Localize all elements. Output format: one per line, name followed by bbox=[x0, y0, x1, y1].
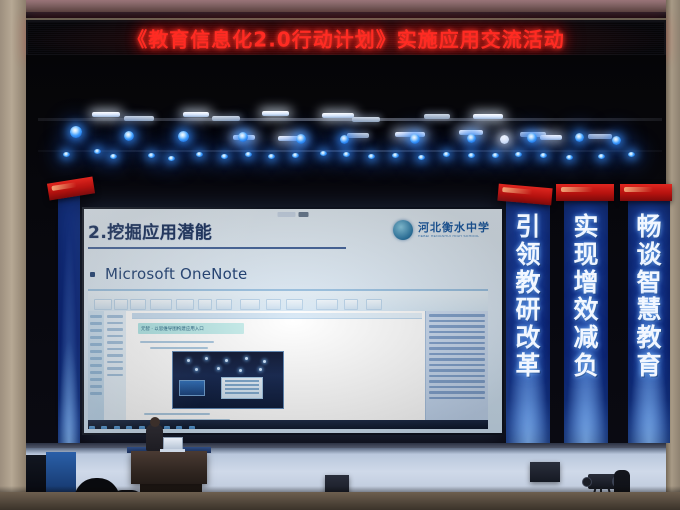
taskbar-icon bbox=[189, 426, 195, 430]
ribbon-highlight bbox=[624, 187, 653, 192]
pillar1-char-1: 领 bbox=[515, 242, 540, 268]
onenote-section-column bbox=[104, 311, 127, 420]
red-ribbon-ornament bbox=[620, 184, 672, 201]
lighting-truss-bar-lower bbox=[38, 150, 662, 152]
note-line bbox=[140, 341, 214, 343]
thumb-light-dot bbox=[225, 359, 228, 362]
notebook-entry bbox=[90, 364, 102, 367]
white-spot-light bbox=[500, 135, 509, 144]
ribbon-tool bbox=[344, 299, 358, 310]
note-line bbox=[150, 347, 208, 349]
notebook-entry bbox=[90, 385, 102, 388]
blue-eye-light bbox=[343, 152, 350, 157]
red-ribbon-ornament bbox=[556, 184, 614, 201]
left-speaker-stack bbox=[26, 455, 46, 495]
front-riser bbox=[0, 492, 680, 510]
section-entry bbox=[107, 361, 123, 364]
school-name-cn: 河北衡水中学 bbox=[418, 222, 490, 233]
blue-eye-light bbox=[628, 152, 635, 157]
pillar3-char-2: 智 bbox=[636, 270, 661, 296]
bar-light-fixture bbox=[262, 111, 289, 116]
onenote-page-title-text: 元智 · 以思维导图构建应用入口 bbox=[138, 323, 244, 332]
thumb-light-dot bbox=[187, 359, 190, 362]
notebook-entry bbox=[90, 378, 102, 381]
pillar3-char-4: 教 bbox=[636, 325, 661, 351]
ribbon-tool bbox=[114, 299, 128, 310]
ribbon-tool bbox=[286, 299, 303, 310]
page-entry bbox=[429, 342, 485, 345]
pillar2-char-0: 实 bbox=[573, 214, 598, 240]
pillar2-char-3: 效 bbox=[573, 297, 598, 323]
onenote-page: 元智 · 以思维导图构建应用入口 bbox=[126, 311, 426, 420]
blue-eye-light bbox=[196, 152, 203, 157]
bar-light-fixture bbox=[424, 114, 450, 119]
notebook-entry bbox=[90, 357, 102, 360]
blue-eye-light bbox=[418, 155, 425, 160]
page-entry bbox=[429, 325, 485, 328]
page-entry bbox=[429, 391, 485, 394]
section-entry bbox=[107, 341, 123, 344]
ribbon-tool bbox=[94, 299, 112, 310]
section-entry bbox=[107, 322, 123, 325]
section-entry bbox=[107, 328, 123, 331]
onenote-page-list bbox=[425, 311, 488, 420]
page-entry bbox=[429, 331, 485, 334]
blue-eye-light bbox=[94, 149, 101, 154]
slide-bullet-row: Microsoft OneNote bbox=[90, 265, 247, 283]
blue-spot-light bbox=[340, 135, 349, 144]
school-logo: 河北衡水中学 HEBEI HENGSHUI HIGH SCHOOL bbox=[393, 219, 490, 241]
blue-spot-light bbox=[124, 131, 134, 141]
notebook-entry bbox=[90, 329, 102, 332]
presenter-desk bbox=[131, 451, 207, 484]
thumb-slide-line bbox=[225, 380, 259, 382]
pillar1-char-4: 改 bbox=[515, 325, 540, 351]
taskbar-icon bbox=[114, 426, 120, 430]
note-line bbox=[144, 413, 210, 415]
ribbon-tool bbox=[216, 299, 232, 310]
left-blue-panel bbox=[46, 452, 76, 492]
left-wall bbox=[0, 0, 26, 510]
blue-eye-light bbox=[540, 153, 547, 158]
blue-eye-light bbox=[368, 154, 375, 159]
blue-eye-light bbox=[168, 156, 175, 161]
page-entry bbox=[429, 320, 485, 323]
pillar1-char-3: 研 bbox=[515, 297, 540, 323]
ribbon-tool bbox=[316, 299, 338, 310]
taskbar-icon bbox=[164, 426, 170, 430]
blue-eye-light bbox=[392, 153, 399, 158]
blue-spot-light bbox=[178, 131, 189, 142]
blue-eye-light bbox=[148, 153, 155, 158]
page-entry bbox=[429, 314, 485, 317]
onenote-ribbon-toolbar bbox=[88, 291, 488, 312]
page-entry bbox=[429, 369, 485, 372]
bar-light-fixture bbox=[347, 133, 369, 138]
ribbon-tool bbox=[240, 299, 260, 310]
led-panel-surface: 《教育信息化2.0行动计划》实施应用交流活动 bbox=[28, 22, 664, 54]
pillar2-char-5: 负 bbox=[573, 353, 598, 379]
bar-light-fixture bbox=[183, 112, 209, 117]
thumb-light-dot bbox=[245, 357, 248, 360]
section-entry bbox=[107, 335, 123, 338]
school-logo-text: 河北衡水中学 HEBEI HENGSHUI HIGH SCHOOL bbox=[418, 222, 490, 238]
presenter-laptop-base bbox=[160, 449, 185, 452]
thumb-light-dot bbox=[205, 357, 208, 360]
pillar-banner-3-text: 畅 谈 智 慧 教 育 bbox=[628, 214, 670, 437]
pillar-banner-1-text: 引 领 教 研 改 革 bbox=[506, 214, 550, 437]
bar-light-fixture bbox=[473, 114, 503, 119]
led-banner-text: 《教育信息化2.0行动计划》实施应用交流活动 bbox=[28, 24, 664, 53]
thumb-inner-slide bbox=[221, 377, 263, 399]
bar-light-fixture bbox=[352, 117, 380, 122]
ribbon-tool bbox=[176, 299, 194, 310]
ribbon-tool bbox=[366, 299, 382, 310]
thumb-light-dot bbox=[263, 360, 266, 363]
ribbon-highlight bbox=[561, 187, 593, 192]
blue-eye-light bbox=[63, 152, 70, 157]
thumb-light-dot bbox=[195, 368, 198, 371]
ribbon-tool bbox=[150, 299, 172, 310]
taskbar-icon bbox=[139, 426, 145, 430]
section-entry bbox=[107, 367, 123, 370]
blue-spot-light bbox=[296, 134, 306, 144]
bar-light-fixture bbox=[322, 113, 354, 118]
section-entry bbox=[107, 374, 123, 377]
notebook-entry bbox=[90, 392, 102, 395]
blue-eye-light bbox=[598, 154, 605, 159]
embedded-photo-thumbnail bbox=[172, 351, 284, 409]
blue-spot-light bbox=[527, 133, 537, 143]
auditorium-stage-photo: 《教育信息化2.0行动计划》实施应用交流活动 bbox=[0, 0, 680, 510]
pillar1-char-5: 革 bbox=[515, 353, 540, 379]
school-emblem-icon bbox=[393, 220, 413, 240]
blue-spot-light bbox=[410, 134, 420, 144]
thumb-slide-line bbox=[225, 392, 259, 394]
presenter bbox=[146, 424, 163, 451]
blue-eye-light bbox=[268, 154, 275, 159]
blue-eye-light bbox=[320, 151, 327, 156]
onenote-canvas: 元智 · 以思维导图构建应用入口 bbox=[104, 311, 426, 420]
blue-spot-light bbox=[575, 133, 584, 142]
blue-eye-light bbox=[566, 155, 573, 160]
pillar3-char-3: 慧 bbox=[636, 297, 661, 323]
blue-eye-light bbox=[515, 152, 522, 157]
bar-light-fixture bbox=[212, 116, 240, 121]
thumb-inner-display bbox=[179, 380, 205, 396]
notebook-entry bbox=[90, 343, 102, 346]
section-entry bbox=[107, 315, 123, 318]
page-entry bbox=[429, 375, 485, 378]
taskbar-icon bbox=[126, 426, 132, 430]
notebook-entry bbox=[90, 322, 102, 325]
ribbon-highlight bbox=[502, 187, 532, 195]
page-entry bbox=[429, 380, 485, 383]
taskbar-icon bbox=[176, 426, 182, 430]
thumb-light-dot bbox=[259, 368, 262, 371]
thumb-light-dot bbox=[217, 367, 220, 370]
notebook-entry bbox=[90, 315, 102, 318]
ribbon-tool bbox=[130, 299, 146, 310]
blue-eye-light bbox=[292, 153, 299, 158]
slide-title: 2.挖掘应用潜能 bbox=[88, 218, 212, 243]
slide-header: 2.挖掘应用潜能 河北衡水中学 HEBEI HENGSHUI HIGH SCHO… bbox=[84, 209, 502, 263]
pillar3-char-1: 谈 bbox=[636, 242, 661, 268]
page-entry bbox=[429, 347, 485, 350]
section-entry bbox=[107, 354, 123, 357]
ceiling-soffit bbox=[0, 0, 680, 12]
onenote-page-toolbar bbox=[132, 313, 422, 319]
slide-bullet-text: Microsoft OneNote bbox=[105, 265, 247, 283]
blue-spot-light bbox=[70, 126, 82, 138]
thumb-slide-line bbox=[225, 388, 259, 390]
projection-screen: 2.挖掘应用潜能 河北衡水中学 HEBEI HENGSHUI HIGH SCHO… bbox=[82, 207, 504, 435]
notebook-entry bbox=[90, 371, 102, 374]
pillar2-char-2: 增 bbox=[573, 270, 598, 296]
onenote-notebook-rail bbox=[88, 311, 105, 420]
page-entry bbox=[429, 353, 485, 356]
blue-spot-light bbox=[612, 136, 621, 145]
onenote-page-title: 元智 · 以思维导图构建应用入口 bbox=[138, 323, 244, 334]
bar-light-fixture bbox=[540, 135, 562, 140]
ribbon-tool bbox=[266, 299, 281, 310]
page-entry bbox=[429, 358, 485, 361]
camera-lens-icon bbox=[582, 477, 592, 487]
bar-light-fixture bbox=[92, 112, 120, 117]
ribbon-tool bbox=[198, 299, 212, 310]
bar-light-fixture bbox=[588, 134, 612, 139]
stage-floor-monitor bbox=[530, 462, 560, 482]
onenote-screenshot: 元智 · 以思维导图构建应用入口 bbox=[88, 289, 488, 429]
page-entry bbox=[429, 397, 485, 400]
thumb-light-dot bbox=[239, 369, 242, 372]
pillar2-char-4: 减 bbox=[573, 325, 598, 351]
blue-eye-light bbox=[245, 152, 252, 157]
blue-eye-light bbox=[443, 152, 450, 157]
taskbar-icon bbox=[101, 426, 107, 430]
blue-spot-light bbox=[238, 132, 248, 142]
pillar-banner-3: 畅 谈 智 慧 教 育 bbox=[628, 200, 670, 443]
pillar3-char-5: 育 bbox=[636, 353, 661, 379]
pillar1-char-0: 引 bbox=[515, 214, 540, 240]
pillar2-char-1: 现 bbox=[573, 242, 598, 268]
presentation-slide: 2.挖掘应用潜能 河北衡水中学 HEBEI HENGSHUI HIGH SCHO… bbox=[84, 209, 502, 433]
page-entry bbox=[429, 364, 485, 367]
bullet-dot-icon bbox=[90, 272, 95, 277]
page-entry bbox=[429, 336, 485, 339]
school-name-en: HEBEI HENGSHUI HIGH SCHOOL bbox=[418, 235, 490, 238]
pillar-banner-2: 实 现 增 效 减 负 bbox=[564, 200, 608, 443]
notebook-entry bbox=[90, 350, 102, 353]
pillar1-char-2: 教 bbox=[515, 270, 540, 296]
page-entry bbox=[429, 386, 485, 389]
blue-eye-light bbox=[110, 154, 117, 159]
slide-title-rule bbox=[88, 247, 346, 249]
bar-light-fixture bbox=[124, 116, 154, 121]
blue-eye-light bbox=[492, 153, 499, 158]
notebook-entry bbox=[90, 336, 102, 339]
thumb-slide-line bbox=[225, 384, 259, 386]
blue-eye-light bbox=[221, 154, 228, 159]
led-marquee-banner: 《教育信息化2.0行动计划》实施应用交流活动 bbox=[26, 18, 666, 59]
blue-eye-light bbox=[468, 153, 475, 158]
taskbar-icon bbox=[89, 426, 95, 430]
section-entry bbox=[107, 348, 123, 351]
left-led-pillar bbox=[58, 195, 80, 443]
blue-spot-light bbox=[467, 134, 476, 143]
presenter-head bbox=[150, 417, 160, 427]
pillar3-char-0: 畅 bbox=[636, 214, 661, 240]
ribbon-highlight bbox=[51, 182, 77, 191]
pillar-banner-2-text: 实 现 增 效 减 负 bbox=[564, 214, 608, 437]
pillar-banner-1: 引 领 教 研 改 革 bbox=[506, 200, 550, 443]
